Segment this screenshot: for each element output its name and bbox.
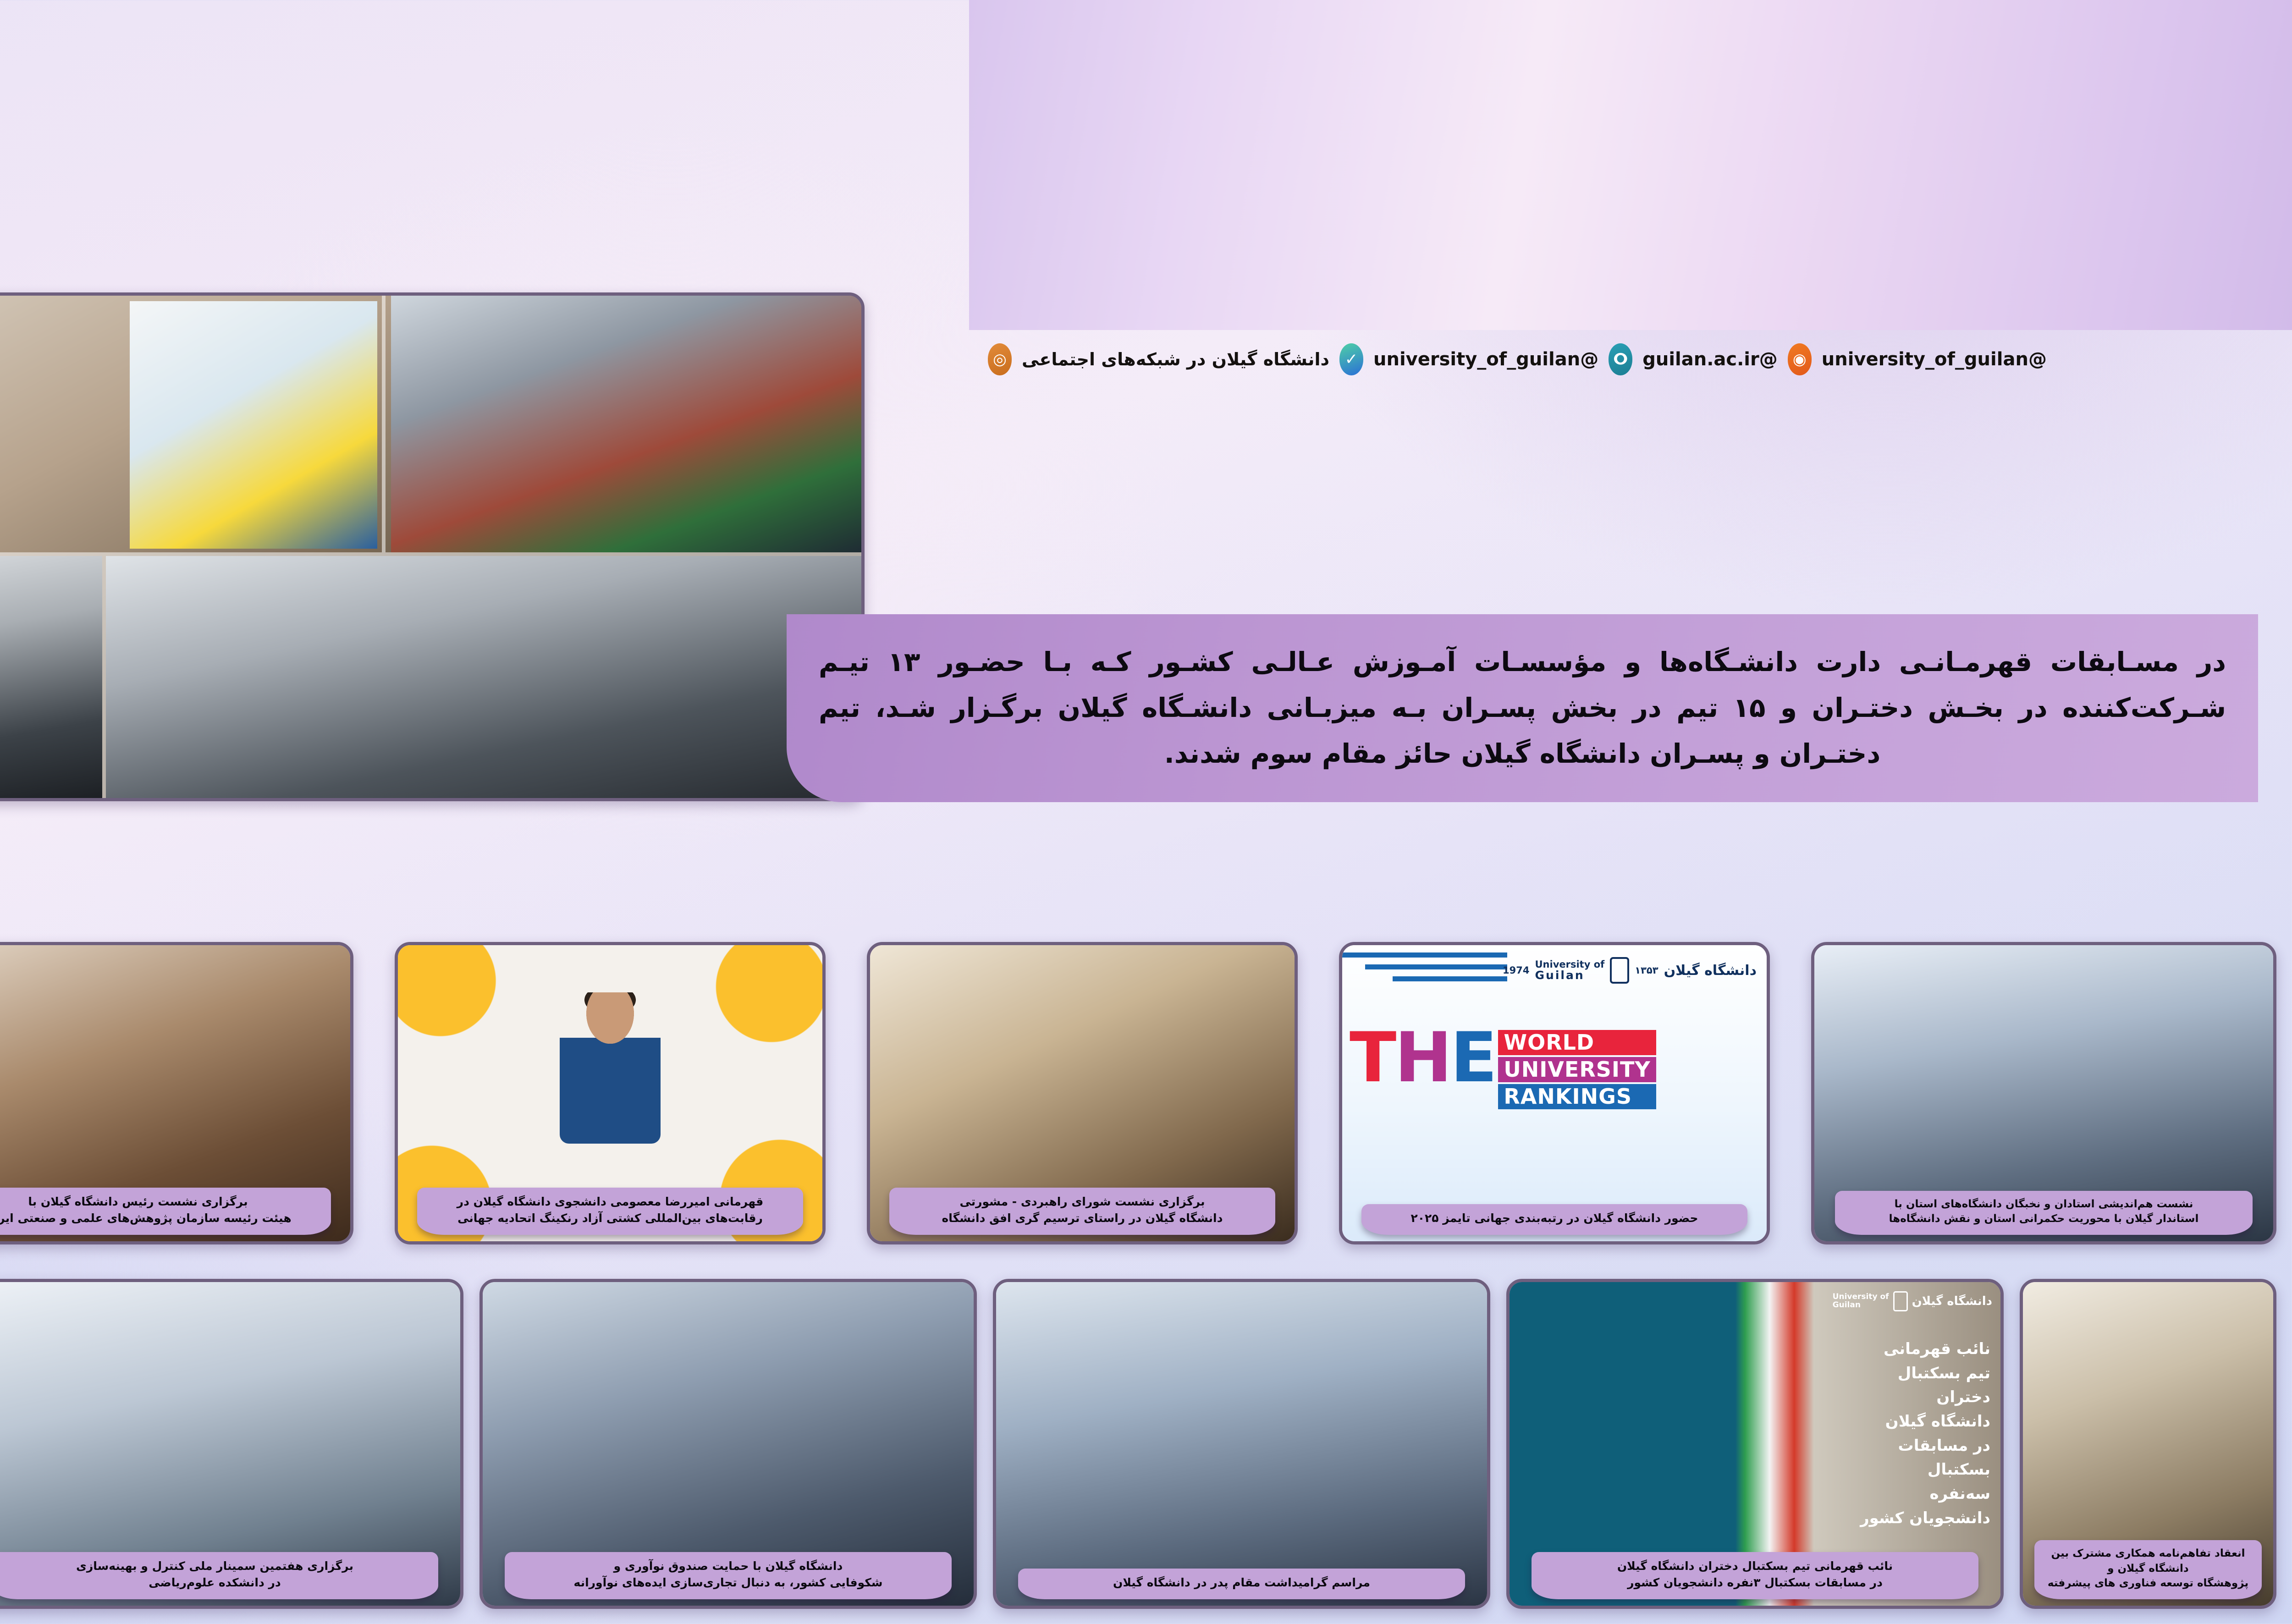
website-handle[interactable]: @guilan.ac.ir [1642, 349, 1778, 370]
bb-logo-fa: دانشگاه گیلان [1912, 1294, 1992, 1308]
the-logo-text: THE [1350, 1030, 1495, 1109]
bb-overlay-l3: دانشگاه گیلان [1853, 1409, 1990, 1434]
caption-line2: رقابت‌های بین‌المللی کشتی آزاد رنکینگ ات… [424, 1210, 796, 1227]
card-caption: قهرمانی امیررضا معصومی دانشجوی دانشگاه گ… [417, 1188, 804, 1235]
bb-logo-mark-icon [1893, 1291, 1908, 1311]
card-innovation-fund[interactable]: دانشگاه گیلان با حمایت صندوق نوآوری و شک… [479, 1279, 977, 1609]
caption-line1: برگزاری نشست شورای راهبردی - مشورتی [897, 1194, 1268, 1210]
card-wrestling-champion[interactable]: قهرمانی امیررضا معصومی دانشجوی دانشگاه گ… [395, 942, 826, 1244]
caption-line2: دانشگاه گیلان در راستای ترسیم گری افق دا… [897, 1210, 1268, 1227]
card-caption: حضور دانشگاه گیلان در رتبه‌بندی جهانی تا… [1361, 1204, 1748, 1235]
website-icon[interactable]: ⵔ [1609, 343, 1632, 375]
the-logo-mark-icon [1610, 957, 1629, 984]
dart-photo-bottomright [106, 556, 865, 801]
the-logo-en-l2: Guilan [1535, 969, 1585, 982]
caption-line1: مراسم گرامیداشت مقام پدر در دانشگاه گیلا… [1025, 1574, 1458, 1591]
caption-line1: حضور دانشگاه گیلان در رتبه‌بندی جهانی تا… [1369, 1210, 1741, 1227]
the-decoration-bars [1342, 952, 1507, 988]
telegram-handle[interactable]: @university_of_guilan [1373, 349, 1598, 370]
card-mou-advanced-tech[interactable]: انعقاد تفاهم‌نامه همکاری مشترک بین دانشگ… [2020, 1279, 2276, 1609]
the-rank-line3: RANKINGS [1498, 1084, 1656, 1109]
card-caption: دانشگاه گیلان با حمایت صندوق نوآوری و شک… [505, 1552, 952, 1599]
caption-line2: شکوفایی کشور، به دنبال تجاری‌سازی ایده‌ه… [512, 1574, 944, 1591]
card-meeting-research-org[interactable]: برگزاری نشست رئیس دانشگاه گیلان با هیئت … [0, 942, 353, 1244]
card-control-seminar[interactable]: برگزاری هفتمین سمینار ملی کنترل و بهینه‌… [0, 1279, 463, 1609]
lead-story-panel: در مسـابقات قهرمـانـی دارت دانشـگاه‌ها و… [787, 614, 2258, 802]
caption-line1: برگزاری نشست رئیس دانشگاه گیلان با [0, 1194, 324, 1210]
card-caption: نائب قهرمانی تیم بسکتبال دختران دانشگاه … [1532, 1552, 1978, 1599]
card-caption: برگزاری نشست رئیس دانشگاه گیلان با هیئت … [0, 1188, 331, 1235]
bb-logo-en-l2: Guilan [1833, 1300, 1861, 1310]
instagram-icon[interactable]: ◉ [1788, 343, 1812, 375]
caption-line2: در دانشکده علوم‌ریاضی [0, 1574, 431, 1591]
card-fathers-day[interactable]: مراسم گرامیداشت مقام پدر در دانشگاه گیلا… [993, 1279, 1490, 1609]
social-network-icon: ◎ [988, 343, 1012, 375]
dart-photo-bottomleft [0, 556, 102, 801]
basketball-overlay-text: نائب قهرمانی تیم بسکتبال دختران دانشگاه … [1853, 1337, 1990, 1530]
lead-story-text: در مسـابقات قهرمـانـی دارت دانشـگاه‌ها و… [819, 639, 2226, 776]
caption-line2: پژوهشگاه توسعه فناوری های پیشرفته [2042, 1576, 2255, 1591]
basketball-card-logo: دانشگاه گیلان University of Guilan [1833, 1291, 1992, 1311]
card-provincial-think-tank[interactable]: نشست هم‌اندیشی استادان و نخبگان دانشگاه‌… [1811, 942, 2276, 1244]
social-label: دانشگاه گیلان در شبکه‌های اجتماعی [1022, 349, 1329, 369]
the-logo-en: University of Guilan [1535, 959, 1605, 981]
the-rankings-logo: THE WORLD UNIVERSITY RANKINGS [1350, 1030, 1656, 1109]
card-basketball-runnerup[interactable]: دانشگاه گیلان University of Guilan نائب … [1506, 1279, 2004, 1609]
the-logo-year-p: ۱۳۵۳ [1635, 965, 1658, 975]
the-logo-year-g: 1974 [1503, 965, 1529, 975]
card-the-rankings[interactable]: دانشگاه گیلان ۱۳۵۳ University of Guilan … [1339, 942, 1770, 1244]
bb-overlay-l1: نائب قهرمانی [1853, 1337, 1990, 1361]
bb-overlay-l2: تیم بسکتبال دختران [1853, 1361, 1990, 1409]
caption-line1: انعقاد تفاهم‌نامه همکاری مشترک بین دانشگ… [2042, 1546, 2255, 1575]
card-photo [996, 1282, 1487, 1606]
athlete-figure [560, 992, 661, 1144]
caption-line1: نشست هم‌اندیشی استادان و نخبگان دانشگاه‌… [1842, 1197, 2245, 1211]
caption-line2: هیئت رئیسه سازمان پژوهش‌های علمی و صنعتی… [0, 1210, 324, 1227]
card-caption: برگزاری هفتمین سمینار ملی کنترل و بهینه‌… [0, 1552, 438, 1599]
the-rankings-lines: WORLD UNIVERSITY RANKINGS [1498, 1030, 1656, 1109]
caption-line2: استاندار گیلان با محوریت حکمرانی استان و… [1842, 1211, 2245, 1226]
telegram-icon[interactable]: ✓ [1339, 343, 1363, 375]
dart-photo-topright [391, 296, 865, 552]
social-media-bar: ◎ دانشگاه گیلان در شبکه‌های اجتماعی ✓ @u… [977, 342, 2288, 377]
caption-line1: نائب قهرمانی تیم بسکتبال دختران دانشگاه … [1539, 1558, 1971, 1574]
bb-overlay-l5: سه‌نفره دانشجویان کشور [1853, 1482, 1990, 1530]
caption-line1: دانشگاه گیلان با حمایت صندوق نوآوری و [512, 1558, 944, 1574]
caption-line1: قهرمانی امیررضا معصومی دانشجوی دانشگاه گ… [424, 1194, 796, 1210]
instagram-handle[interactable]: @university_of_guilan [1822, 349, 2047, 370]
dart-championship-collage [0, 292, 865, 801]
the-rank-line2: UNIVERSITY [1498, 1057, 1656, 1082]
card-caption: انعقاد تفاهم‌نامه همکاری مشترک بین دانشگ… [2034, 1540, 2262, 1599]
card-caption: برگزاری نشست شورای راهبردی - مشورتی دانش… [889, 1188, 1276, 1235]
card-caption: مراسم گرامیداشت مقام پدر در دانشگاه گیلا… [1018, 1569, 1465, 1600]
card-strategic-council[interactable]: برگزاری نشست شورای راهبردی - مشورتی دانش… [867, 942, 1298, 1244]
the-logo-fa: دانشگاه گیلان [1664, 963, 1757, 979]
the-rank-line1: WORLD [1498, 1030, 1656, 1055]
the-university-logo: دانشگاه گیلان ۱۳۵۳ University of Guilan … [1503, 957, 1757, 984]
bb-logo-en: University of Guilan [1833, 1293, 1889, 1310]
card-photo: دانشگاه گیلان ۱۳۵۳ University of Guilan … [1342, 945, 1767, 1241]
caption-line2: در مسابقات بسکتبال ۳نفره دانشجویان کشور [1539, 1574, 1971, 1591]
bb-overlay-l4: در مسابقات بسکتبال [1853, 1434, 1990, 1482]
card-caption: نشست هم‌اندیشی استادان و نخبگان دانشگاه‌… [1835, 1191, 2253, 1235]
dart-banner-photo [130, 301, 377, 549]
caption-line1: برگزاری هفتمین سمینار ملی کنترل و بهینه‌… [0, 1558, 431, 1574]
header-band: دانشگاه گیلان ۱۳۵۳ 1974 University of Gu… [969, 0, 2292, 330]
